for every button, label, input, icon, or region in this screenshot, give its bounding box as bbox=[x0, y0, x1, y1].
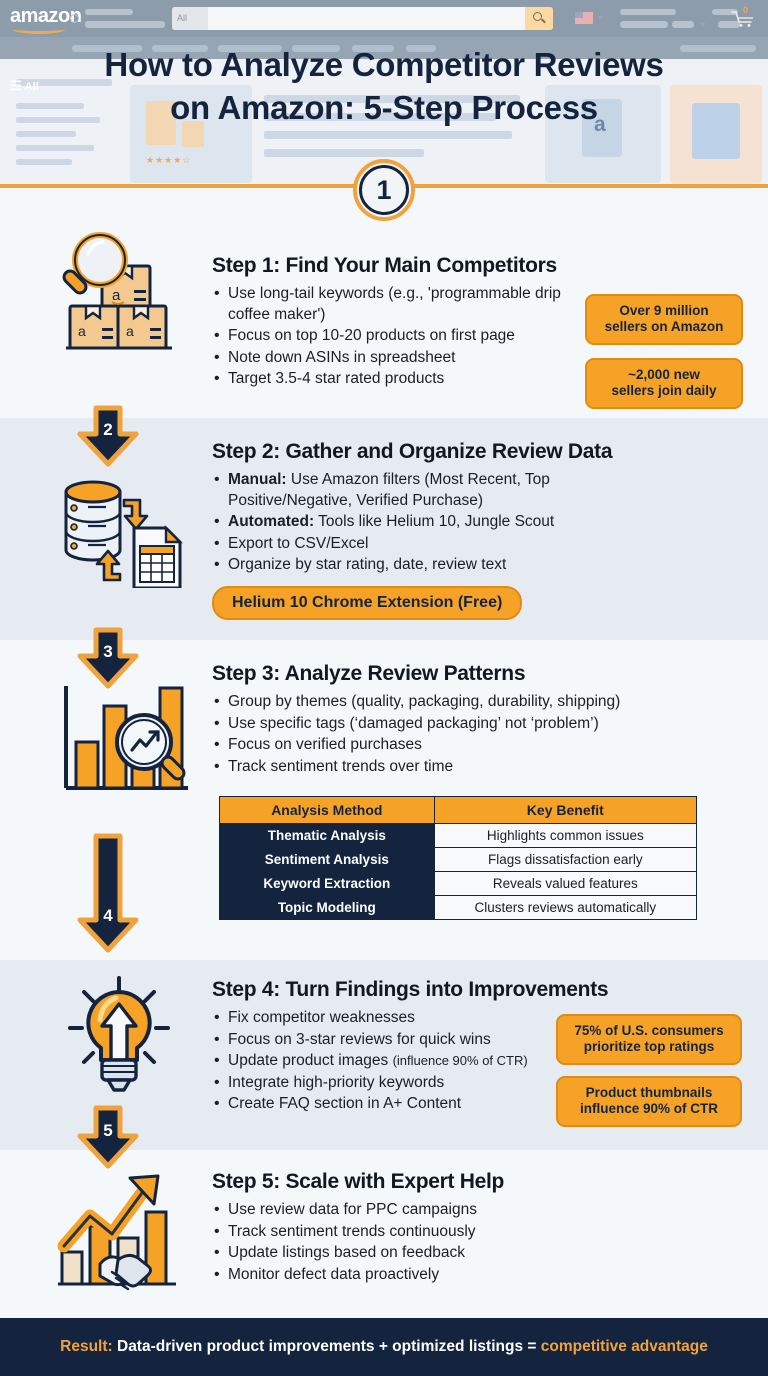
database-spreadsheet-icon bbox=[58, 470, 188, 593]
stat-pill-line1: Product thumbnails bbox=[568, 1085, 730, 1101]
mock-line bbox=[16, 145, 94, 151]
search-button[interactable] bbox=[525, 7, 553, 30]
stat-pill-line1: 75% of U.S. consumers bbox=[568, 1023, 730, 1039]
footer-accent: competitive advantage bbox=[541, 1338, 708, 1355]
list-item: Focus on verified purchases bbox=[212, 735, 712, 756]
step-1-heading: Step 1: Find Your Main Competitors bbox=[212, 254, 768, 278]
growth-handshake-icon bbox=[54, 1168, 184, 1299]
list-item-label: Automated: bbox=[228, 513, 314, 530]
stat-pill-consumers: 75% of U.S. consumers prioritize top rat… bbox=[556, 1014, 742, 1065]
table-row: Sentiment Analysis Flags dissatisfaction… bbox=[220, 848, 697, 872]
stat-pill-line2: prioritize top ratings bbox=[568, 1039, 730, 1055]
step-5-content: Step 5: Scale with Expert Help Use revie… bbox=[212, 1170, 768, 1286]
step-4-bullets: Fix competitor weaknesses Focus on 3-sta… bbox=[212, 1008, 572, 1115]
list-item: Export to CSV/Excel bbox=[212, 534, 632, 555]
mock-line bbox=[16, 159, 72, 165]
search-category-select[interactable]: All bbox=[172, 7, 208, 30]
list-item: Use long-tail keywords (e.g., 'programma… bbox=[212, 284, 594, 325]
list-item: Integrate high-priority keywords bbox=[212, 1073, 572, 1094]
footer-text: Result: Data-driven product improvements… bbox=[60, 1338, 708, 1356]
mock-line bbox=[16, 131, 76, 137]
list-item: Monitor defect data proactively bbox=[212, 1265, 632, 1286]
mock-star-rating: ★★★★☆ bbox=[146, 155, 191, 166]
table-header-row: Analysis Method Key Benefit bbox=[220, 797, 697, 824]
list-item: Fix competitor weaknesses bbox=[212, 1008, 572, 1029]
helium-extension-pill: Helium 10 Chrome Extension (Free) bbox=[212, 586, 522, 620]
list-item-text: Tools like Helium 10, Jungle Scout bbox=[318, 513, 554, 530]
magnifier-boxes-icon: a a a bbox=[56, 230, 192, 355]
account-line bbox=[620, 9, 676, 15]
table-cell-method: Sentiment Analysis bbox=[220, 848, 435, 872]
list-item: Target 3.5-4 star rated products bbox=[212, 369, 594, 390]
table-cell-method: Keyword Extraction bbox=[220, 872, 435, 896]
list-item: Update product images (influence 90% of … bbox=[212, 1051, 572, 1072]
step-5-bullets: Use review data for PPC campaigns Track … bbox=[212, 1200, 632, 1285]
stat-pill-line1: ~2,000 new bbox=[597, 367, 731, 383]
deliver-to-city bbox=[85, 21, 165, 28]
step-connector-arrow-5: 5 bbox=[74, 1104, 142, 1170]
footer-label: Result: bbox=[60, 1338, 113, 1355]
step-2-heading: Step 2: Gather and Organize Review Data bbox=[212, 440, 768, 464]
step-3-content: Step 3: Analyze Review Patterns Group by… bbox=[212, 662, 768, 778]
section-step-5: Step 5: Scale with Expert Help Use revie… bbox=[0, 1150, 768, 1318]
step-connector-number: 4 bbox=[74, 906, 142, 926]
list-item: Focus on top 10-20 products on first pag… bbox=[212, 326, 594, 347]
table-row: Topic Modeling Clusters reviews automati… bbox=[220, 896, 697, 920]
footer-result-banner: Result: Data-driven product improvements… bbox=[0, 1318, 768, 1376]
stat-pill-line2: sellers on Amazon bbox=[597, 319, 731, 335]
step-connector-arrow-4: 4 bbox=[74, 832, 142, 954]
list-item: Manual: Use Amazon filters (Most Recent,… bbox=[212, 470, 632, 511]
list-item: Update listings based on feedback bbox=[212, 1243, 632, 1264]
step-badge-1-number: 1 bbox=[359, 165, 409, 215]
step-connector-number: 3 bbox=[74, 642, 142, 662]
stat-pill-thumbnails: Product thumbnails influence 90% of CTR bbox=[556, 1076, 742, 1127]
step-1-bullets: Use long-tail keywords (e.g., 'programma… bbox=[212, 284, 594, 390]
cart-count: 0 bbox=[743, 5, 748, 15]
analysis-methods-table: Analysis Method Key Benefit Thematic Ana… bbox=[219, 796, 697, 920]
page-title-line1: How to Analyze Competitor Reviews bbox=[0, 44, 768, 87]
chevron-down-icon bbox=[598, 16, 604, 20]
stat-pill-sellers: Over 9 million sellers on Amazon bbox=[585, 294, 743, 345]
step-3-bullets: Group by themes (quality, packaging, dur… bbox=[212, 692, 712, 777]
table-cell-benefit: Reveals valued features bbox=[434, 872, 696, 896]
stat-pill-line2: sellers join daily bbox=[597, 383, 731, 399]
list-item-note: (influence 90% of CTR) bbox=[393, 1053, 528, 1068]
table-cell-benefit: Highlights common issues bbox=[434, 824, 696, 848]
table-row: Keyword Extraction Reveals valued featur… bbox=[220, 872, 697, 896]
list-item: Note down ASINs in spreadsheet bbox=[212, 348, 594, 369]
step-2-bullets: Manual: Use Amazon filters (Most Recent,… bbox=[212, 470, 632, 576]
bar-chart-magnifier-icon bbox=[56, 680, 201, 805]
list-item: Organize by star rating, date, review te… bbox=[212, 555, 632, 576]
list-item: Track sentiment trends over time bbox=[212, 757, 712, 778]
step-5-heading: Step 5: Scale with Expert Help bbox=[212, 1170, 768, 1194]
svg-text:a: a bbox=[126, 323, 134, 339]
stat-pill-new-sellers: ~2,000 new sellers join daily bbox=[585, 358, 743, 409]
amazon-smile-icon bbox=[13, 25, 65, 34]
table-cell-benefit: Flags dissatisfaction early bbox=[434, 848, 696, 872]
search-icon bbox=[533, 12, 542, 21]
list-item: Use specific tags (‘damaged packaging’ n… bbox=[212, 714, 712, 735]
account-lists bbox=[672, 21, 694, 28]
step-badge-1: 1 bbox=[353, 159, 415, 221]
list-item: Track sentiment trends continuously bbox=[212, 1222, 632, 1243]
table-row: Thematic Analysis Highlights common issu… bbox=[220, 824, 697, 848]
step-4-heading: Step 4: Turn Findings into Improvements bbox=[212, 978, 768, 1002]
table-cell-method: Topic Modeling bbox=[220, 896, 435, 920]
page-title-line2: on Amazon: 5-Step Process bbox=[0, 87, 768, 130]
account-name bbox=[620, 21, 668, 28]
list-item-text: Update product images bbox=[228, 1052, 393, 1069]
list-item: Group by themes (quality, packaging, dur… bbox=[212, 692, 712, 713]
location-pin-icon[interactable] bbox=[70, 14, 79, 23]
step-2-content: Step 2: Gather and Organize Review Data … bbox=[212, 440, 768, 620]
stat-pill-line1: Over 9 million bbox=[597, 303, 731, 319]
table-cell-benefit: Clusters reviews automatically bbox=[434, 896, 696, 920]
list-item: Create FAQ section in A+ Content bbox=[212, 1094, 572, 1115]
table-cell-method: Thematic Analysis bbox=[220, 824, 435, 848]
flag-icon[interactable] bbox=[575, 12, 593, 24]
table-header-cell: Analysis Method bbox=[220, 797, 435, 824]
stat-pill-line2: influence 90% of CTR bbox=[568, 1101, 730, 1117]
cart-icon[interactable]: 0 bbox=[730, 8, 756, 28]
svg-text:a: a bbox=[112, 287, 121, 304]
mock-line bbox=[264, 131, 512, 139]
step-connector-number: 2 bbox=[74, 420, 142, 440]
page-title: How to Analyze Competitor Reviews on Ama… bbox=[0, 44, 768, 130]
infographic-page: ★★★★☆ a amazon All bbox=[0, 0, 768, 1376]
list-item: Use review data for PPC campaigns bbox=[212, 1200, 632, 1221]
search-input[interactable] bbox=[208, 7, 525, 30]
deliver-to-line bbox=[85, 9, 133, 15]
lightbulb-arrow-icon bbox=[56, 972, 182, 1099]
footer-body: Data-driven product improvements + optim… bbox=[113, 1338, 541, 1355]
step-connector-arrow-3: 3 bbox=[74, 626, 142, 690]
list-item-label: Manual: bbox=[228, 471, 287, 488]
chevron-down-icon bbox=[700, 23, 706, 27]
search-bar[interactable]: All bbox=[172, 7, 553, 30]
step-3-heading: Step 3: Analyze Review Patterns bbox=[212, 662, 768, 686]
step-connector-number: 5 bbox=[74, 1121, 142, 1141]
svg-text:a: a bbox=[78, 323, 86, 339]
mock-line bbox=[264, 149, 424, 157]
amazon-navbar: amazon All bbox=[0, 0, 768, 37]
table-header-cell: Key Benefit bbox=[434, 797, 696, 824]
step-connector-arrow-2: 2 bbox=[74, 404, 142, 468]
list-item: Focus on 3-star reviews for quick wins bbox=[212, 1030, 572, 1051]
list-item: Automated: Tools like Helium 10, Jungle … bbox=[212, 512, 632, 533]
